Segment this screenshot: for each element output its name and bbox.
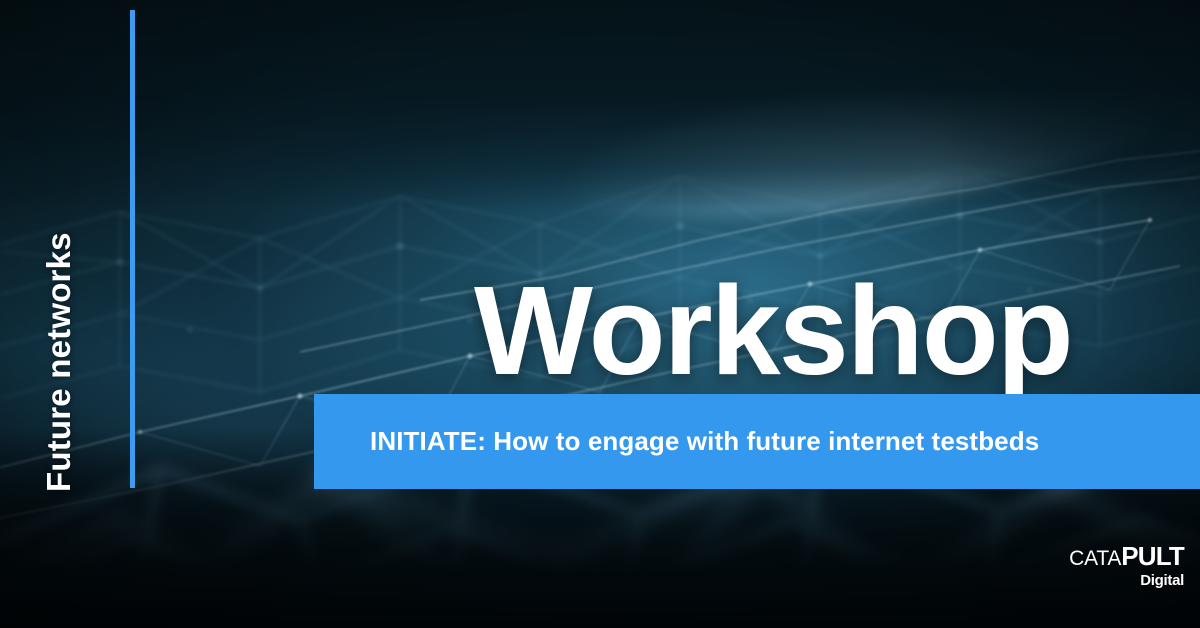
category-label: Future networks [40, 92, 78, 492]
logo-wordmark: CATAPULT [1069, 543, 1184, 570]
background-top-shade [0, 0, 1200, 210]
poster-canvas: Future networks Workshop INITIATE: How t… [0, 0, 1200, 628]
page-title: Workshop [474, 268, 1072, 394]
catapult-digital-logo: CATAPULT Digital [1069, 543, 1184, 588]
logo-pult-text: PULT [1121, 541, 1184, 571]
subtitle-banner: INITIATE: How to engage with future inte… [314, 394, 1200, 489]
subtitle-text: INITIATE: How to engage with future inte… [370, 394, 1039, 489]
accent-vertical-line [130, 10, 135, 488]
logo-sub-text: Digital [1069, 573, 1184, 588]
logo-cata-text: CATA [1069, 547, 1121, 570]
